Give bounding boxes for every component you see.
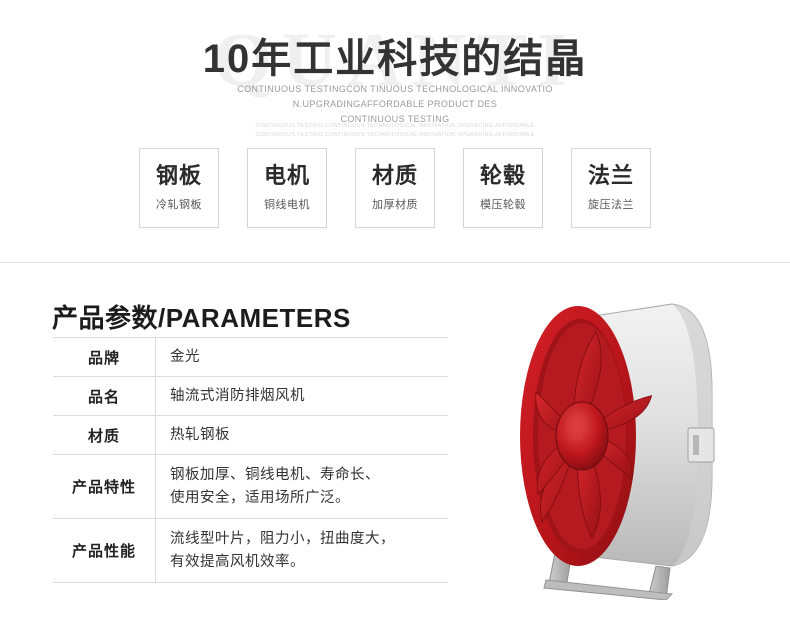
feature-caption: 加厚材质 [372,196,418,212]
feature-title: 材质 [372,164,418,188]
feature-box-row: 钢板 冷轧钢板 电机 铜线电机 材质 加厚材质 轮毂 模压轮毂 法兰 旋压法兰 [0,148,790,228]
feature-title: 法兰 [588,164,634,188]
param-label: 品牌 [53,338,156,377]
axial-fan-illustration [460,280,780,600]
feature-title: 轮毂 [480,164,526,188]
param-value: 钢板加厚、铜线电机、寿命长、 使用安全，适用场所广泛。 [156,455,449,519]
param-value: 流线型叶片，阻力小，扭曲度大， 有效提高风机效率。 [156,519,449,583]
page-title: 产品参数/PARAMETERS [52,298,351,335]
hero-fineprint: CONTINUOUS TESTING CONTINUOUS TECHNOLOGI… [0,122,790,140]
section-divider [0,262,790,263]
feature-box-flange: 法兰 旋压法兰 [571,148,651,228]
feature-caption: 旋压法兰 [588,196,634,212]
parameters-table: 品牌 金光 品名 轴流式消防排烟风机 材质 热轧钢板 产品特性 钢板加厚、铜线电… [53,337,448,583]
hero-subtitle: CONTINUOUS TESTINGCON TINUOUS TECHNOLOGI… [0,82,790,127]
page-root: QUANTI 10年工业科技的结晶 CONTINUOUS TESTINGCON … [0,0,790,621]
hero-subtitle-line-1: CONTINUOUS TESTINGCON TINUOUS TECHNOLOGI… [0,82,790,97]
feature-caption: 模压轮毂 [480,196,526,212]
feature-box-motor: 电机 铜线电机 [247,148,327,228]
table-row: 产品特性 钢板加厚、铜线电机、寿命长、 使用安全，适用场所广泛。 [53,455,448,519]
table-row: 品牌 金光 [53,338,448,377]
hero-title: 10年工业科技的结晶 [0,26,790,84]
param-value: 金光 [156,338,449,377]
param-label: 产品特性 [53,455,156,519]
param-label: 产品性能 [53,519,156,583]
feature-box-hub: 轮毂 模压轮毂 [463,148,543,228]
feature-box-material: 材质 加厚材质 [355,148,435,228]
junction-box [688,428,714,462]
feature-caption: 铜线电机 [264,196,310,212]
param-label: 品名 [53,377,156,416]
param-label: 材质 [53,416,156,455]
table-row: 品名 轴流式消防排烟风机 [53,377,448,416]
table-row: 材质 热轧钢板 [53,416,448,455]
feature-title: 钢板 [156,164,202,188]
param-value: 热轧钢板 [156,416,449,455]
hero-fineprint-line-2: CONTINUOUS TESTING CONTINUOUS TECHNOLOGI… [0,131,790,140]
feature-title: 电机 [264,164,310,188]
feature-box-steel-plate: 钢板 冷轧钢板 [139,148,219,228]
product-photo [460,280,780,600]
table-row: 产品性能 流线型叶片，阻力小，扭曲度大， 有效提高风机效率。 [53,519,448,583]
hero-subtitle-line-2: N.UPGRADINGAFFORDABLE PRODUCT DES [0,97,790,112]
hero-fineprint-line-1: CONTINUOUS TESTING CONTINUOUS TECHNOLOGI… [0,122,790,131]
hero-section: QUANTI 10年工业科技的结晶 CONTINUOUS TESTINGCON … [0,0,790,252]
param-value: 轴流式消防排烟风机 [156,377,449,416]
feature-caption: 冷轧钢板 [156,196,202,212]
